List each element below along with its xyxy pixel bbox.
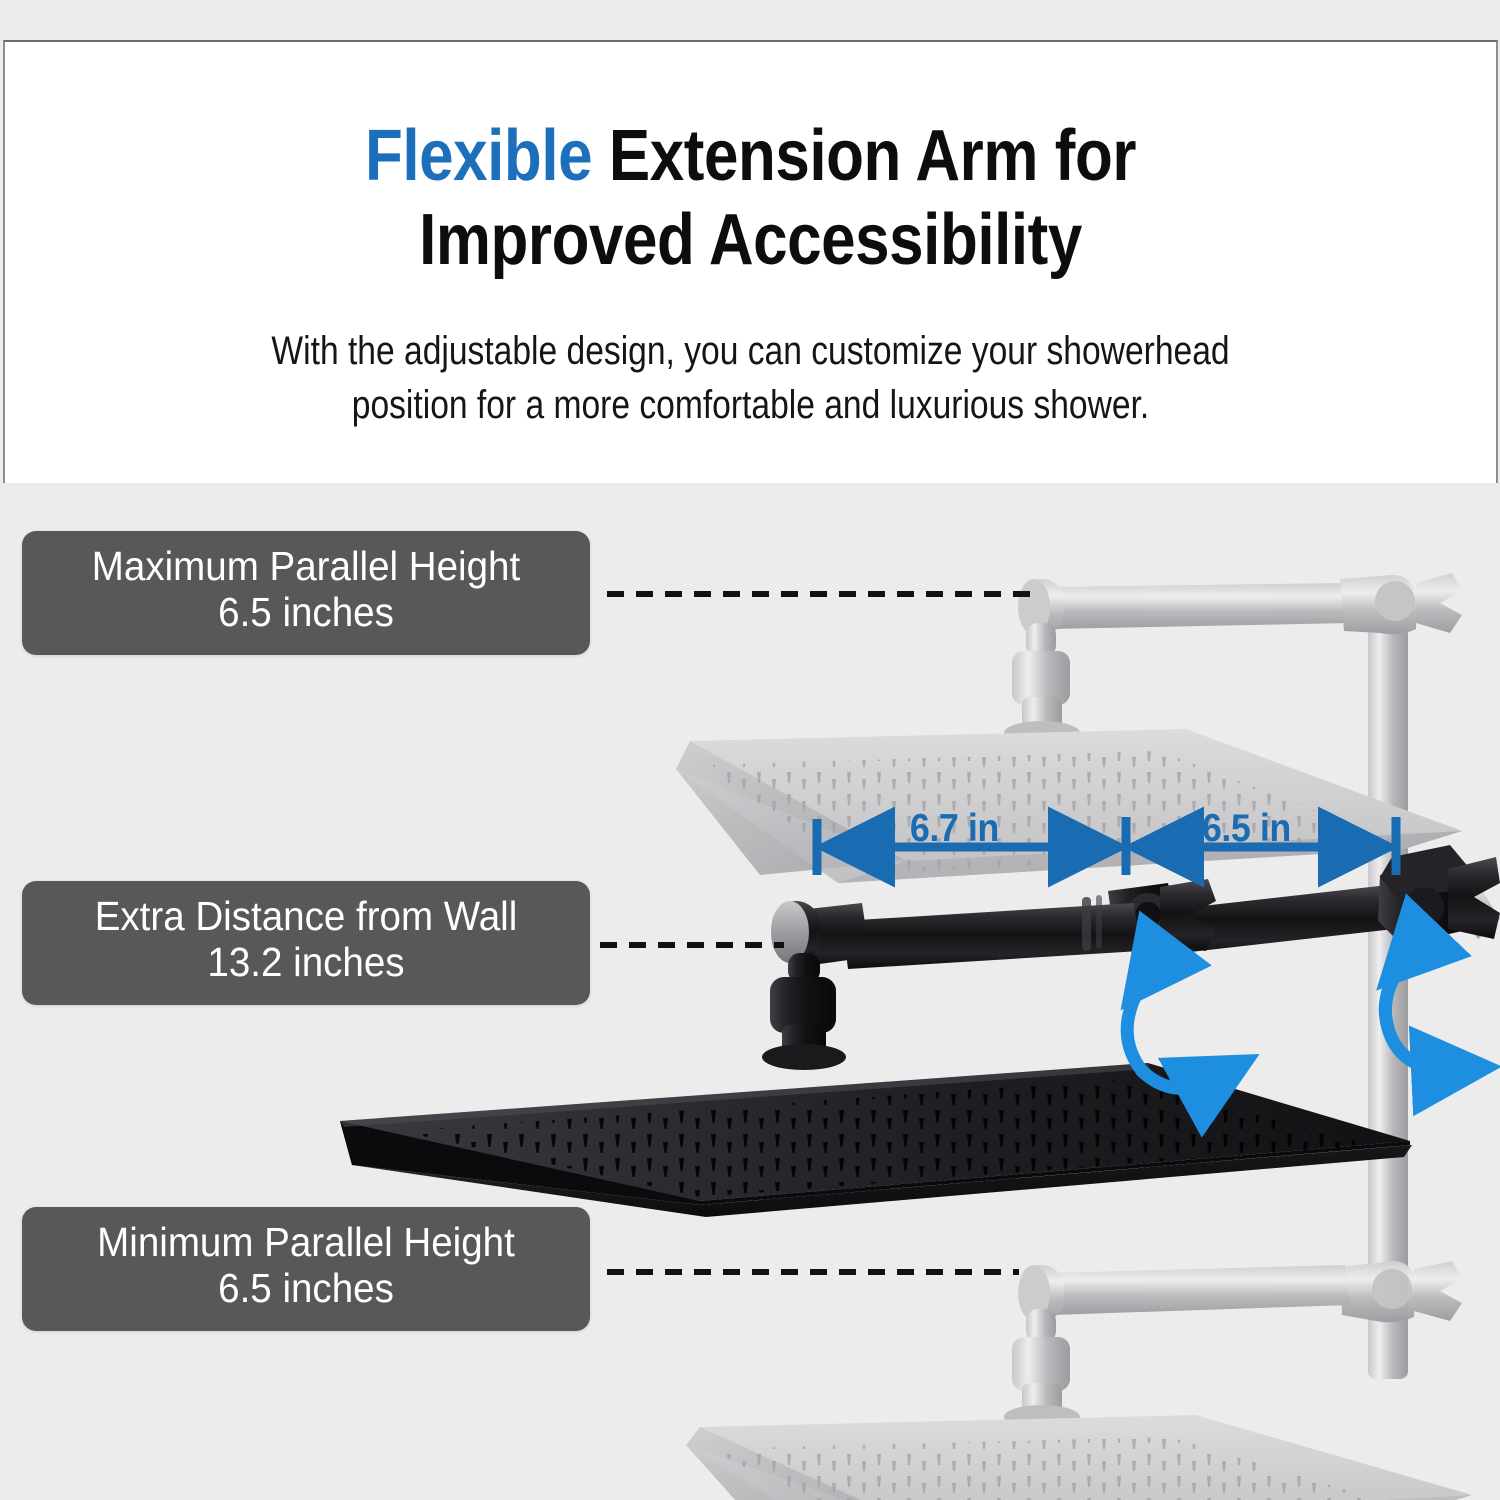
callout-max-title: Maximum Parallel Height bbox=[63, 545, 548, 588]
infographic-page: Flexible Extension Arm for Improved Acce… bbox=[0, 0, 1500, 1500]
callout-min-title: Minimum Parallel Height bbox=[63, 1221, 548, 1264]
leader-line-max-height bbox=[607, 591, 1037, 597]
dimension-label-segment-b: 6.5 in bbox=[1202, 807, 1291, 851]
callout-max-value: 6.5 inches bbox=[63, 588, 548, 636]
leader-line-min-height bbox=[607, 1269, 1019, 1275]
leader-line-wall-distance bbox=[600, 942, 784, 948]
page-title: Flexible Extension Arm for Improved Acce… bbox=[109, 114, 1391, 282]
callout-dist-value: 13.2 inches bbox=[63, 938, 548, 986]
callout-min-parallel-height: Minimum Parallel Height 6.5 inches bbox=[22, 1207, 590, 1331]
header-panel: Flexible Extension Arm for Improved Acce… bbox=[3, 40, 1498, 483]
product-diagram: 6.7 in 6.5 in Maximum Parallel Height 6.… bbox=[0, 483, 1500, 1500]
callout-extra-distance-wall: Extra Distance from Wall 13.2 inches bbox=[22, 881, 590, 1005]
dimension-label-segment-a: 6.7 in bbox=[910, 807, 999, 851]
headline-highlight: Flexible bbox=[365, 116, 592, 196]
callout-min-value: 6.5 inches bbox=[63, 1264, 548, 1312]
page-subtitle: With the adjustable design, you can cust… bbox=[124, 324, 1376, 433]
callout-dist-title: Extra Distance from Wall bbox=[63, 895, 548, 938]
callout-max-parallel-height: Maximum Parallel Height 6.5 inches bbox=[22, 531, 590, 655]
